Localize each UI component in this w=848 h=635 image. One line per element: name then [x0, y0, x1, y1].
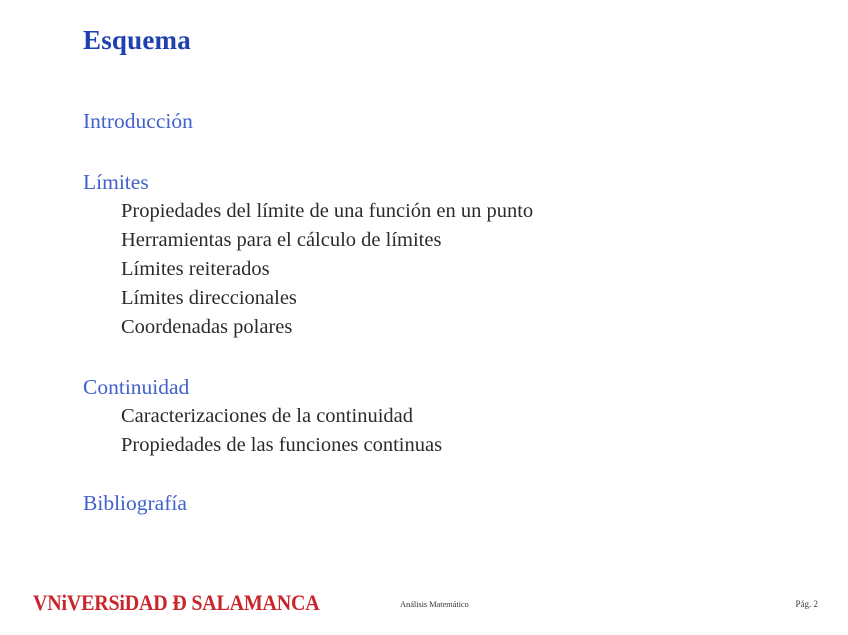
sub-list-limites: Propiedades del límite de una función en…: [0, 197, 848, 343]
footer-page-number: Pág. 2: [796, 599, 819, 609]
list-item[interactable]: Propiedades de las funciones continuas: [121, 431, 848, 460]
list-item[interactable]: Propiedades del límite de una función en…: [121, 197, 848, 226]
sub-list-continuidad: Caracterizaciones de la continuidad Prop…: [0, 402, 848, 460]
outline-section-continuidad: Continuidad Caracterizaciones de la cont…: [0, 374, 848, 461]
list-item[interactable]: Coordenadas polares: [121, 313, 848, 342]
outline-section-bibliografia: Bibliografía: [0, 490, 848, 518]
page-title: Esquema: [83, 26, 191, 56]
section-heading-limites[interactable]: Límites: [83, 169, 848, 197]
spacer: [0, 343, 848, 374]
slide-footer: VNiVERSiDAD Ð SALAMANCA Análisis Matemát…: [0, 583, 848, 635]
university-logo: VNiVERSiDAD Ð SALAMANCA: [33, 591, 320, 617]
list-item[interactable]: Herramientas para el cálculo de límites: [121, 226, 848, 255]
outline-section-introduccion: Introducción: [0, 108, 848, 136]
spacer: [0, 137, 848, 169]
presentation-slide: Esquema Introducción Límites Propiedades…: [0, 0, 848, 635]
footer-subject: Análisis Matemático: [400, 599, 469, 609]
list-item[interactable]: Caracterizaciones de la continuidad: [121, 402, 848, 431]
list-item[interactable]: Límites direccionales: [121, 284, 848, 313]
section-heading-bibliografia[interactable]: Bibliografía: [83, 490, 848, 518]
outline-section-limites: Límites Propiedades del límite de una fu…: [0, 169, 848, 343]
section-heading-continuidad[interactable]: Continuidad: [83, 374, 848, 402]
list-item[interactable]: Límites reiterados: [121, 255, 848, 284]
spacer: [0, 460, 848, 490]
outline-list: Introducción Límites Propiedades del lím…: [0, 108, 848, 519]
section-heading-introduccion[interactable]: Introducción: [83, 108, 848, 136]
